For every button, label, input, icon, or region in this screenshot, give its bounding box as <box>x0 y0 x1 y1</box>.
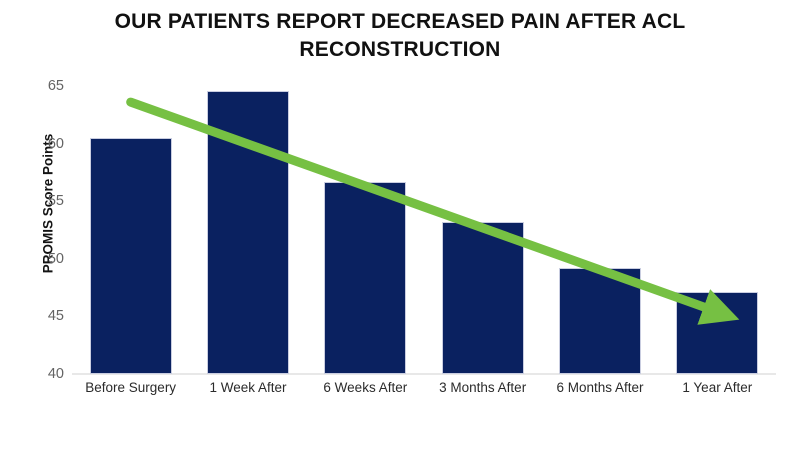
bar-6-months-after[interactable] <box>559 268 641 374</box>
y-axis-tick-label: 50 <box>24 251 64 267</box>
x-axis-tick-label: 1 Year After <box>659 380 776 395</box>
x-axis-tick-label: 6 Months After <box>541 380 658 395</box>
y-axis-tick-label: 60 <box>24 136 64 152</box>
y-axis-tick-label: 65 <box>24 78 64 94</box>
x-axis-tick-label: Before Surgery <box>72 380 189 395</box>
bar-3-months-after[interactable] <box>442 222 524 374</box>
bar-slot <box>324 86 406 374</box>
plot-area <box>72 86 776 374</box>
bars-layer <box>72 86 776 374</box>
bar-before-surgery[interactable] <box>90 138 172 374</box>
y-axis-tick-label: 45 <box>24 308 64 324</box>
bar-slot <box>207 86 289 374</box>
chart-title: OUR PATIENTS REPORT DECREASED PAIN AFTER… <box>90 8 710 63</box>
bar-slot <box>442 86 524 374</box>
x-axis-tick-label: 6 Weeks After <box>307 380 424 395</box>
x-axis-tick-label: 1 Week After <box>189 380 306 395</box>
x-axis-tick-label: 3 Months After <box>424 380 541 395</box>
y-axis-tick-labels: 404550556065 <box>20 86 64 374</box>
chart-container: OUR PATIENTS REPORT DECREASED PAIN AFTER… <box>0 0 800 458</box>
bar-slot <box>90 86 172 374</box>
x-axis-tick-labels: Before Surgery1 Week After6 Weeks After3… <box>72 380 776 406</box>
bar-1-week-after[interactable] <box>207 91 289 374</box>
bar-6-weeks-after[interactable] <box>324 182 406 374</box>
bar-slot <box>559 86 641 374</box>
bar-1-year-after[interactable] <box>676 292 758 374</box>
y-axis-tick-label: 40 <box>24 366 64 382</box>
y-axis-tick-label: 55 <box>24 193 64 209</box>
bar-slot <box>676 86 758 374</box>
